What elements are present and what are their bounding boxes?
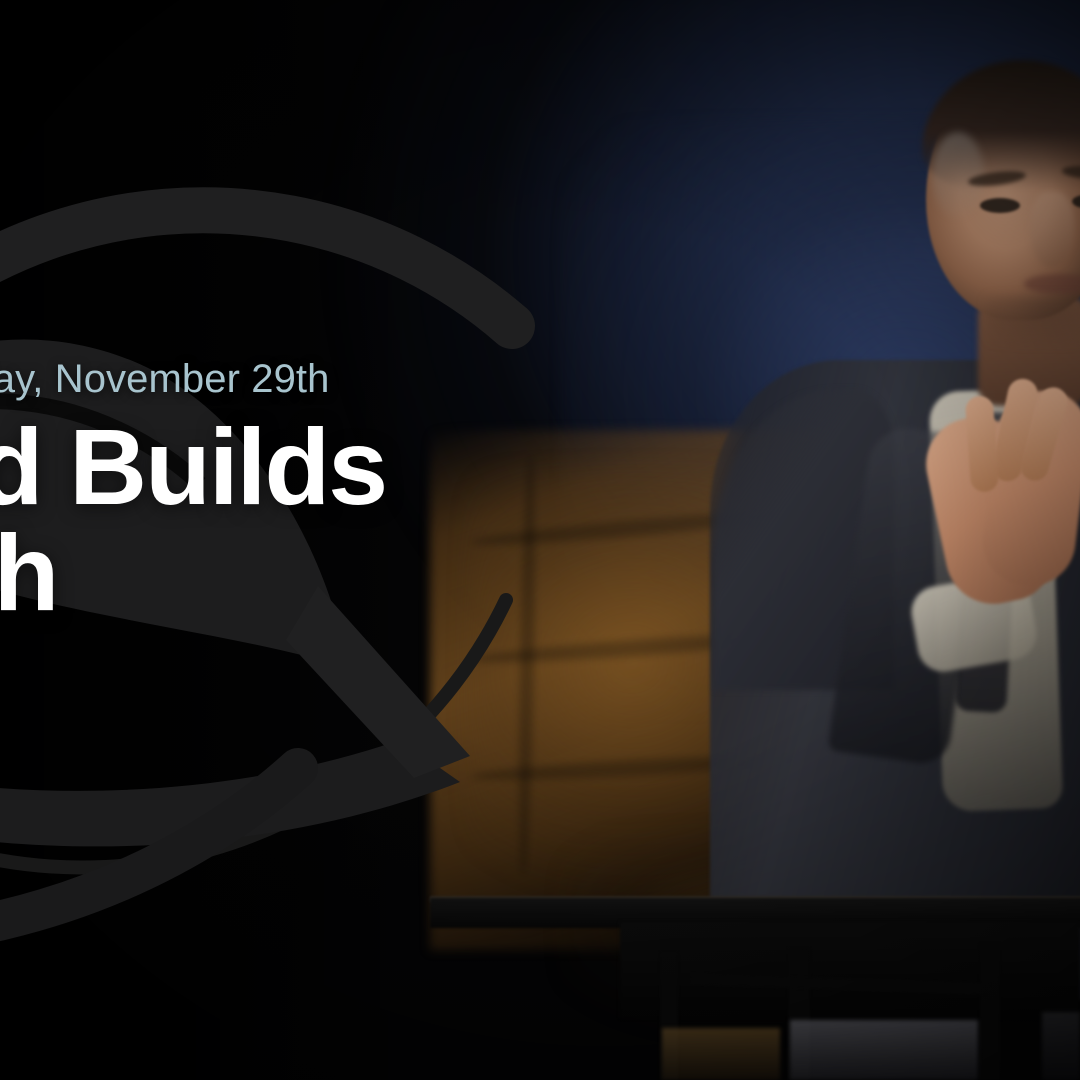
series-label: NE	[0, 640, 772, 671]
sermon-graphic: am Sunday, November 29th God Builds urch…	[0, 0, 1080, 1080]
page-title: God Builds urch	[0, 414, 772, 626]
title-block: am Sunday, November 29th God Builds urch…	[0, 356, 772, 671]
service-time-date: am Sunday, November 29th	[0, 356, 772, 402]
